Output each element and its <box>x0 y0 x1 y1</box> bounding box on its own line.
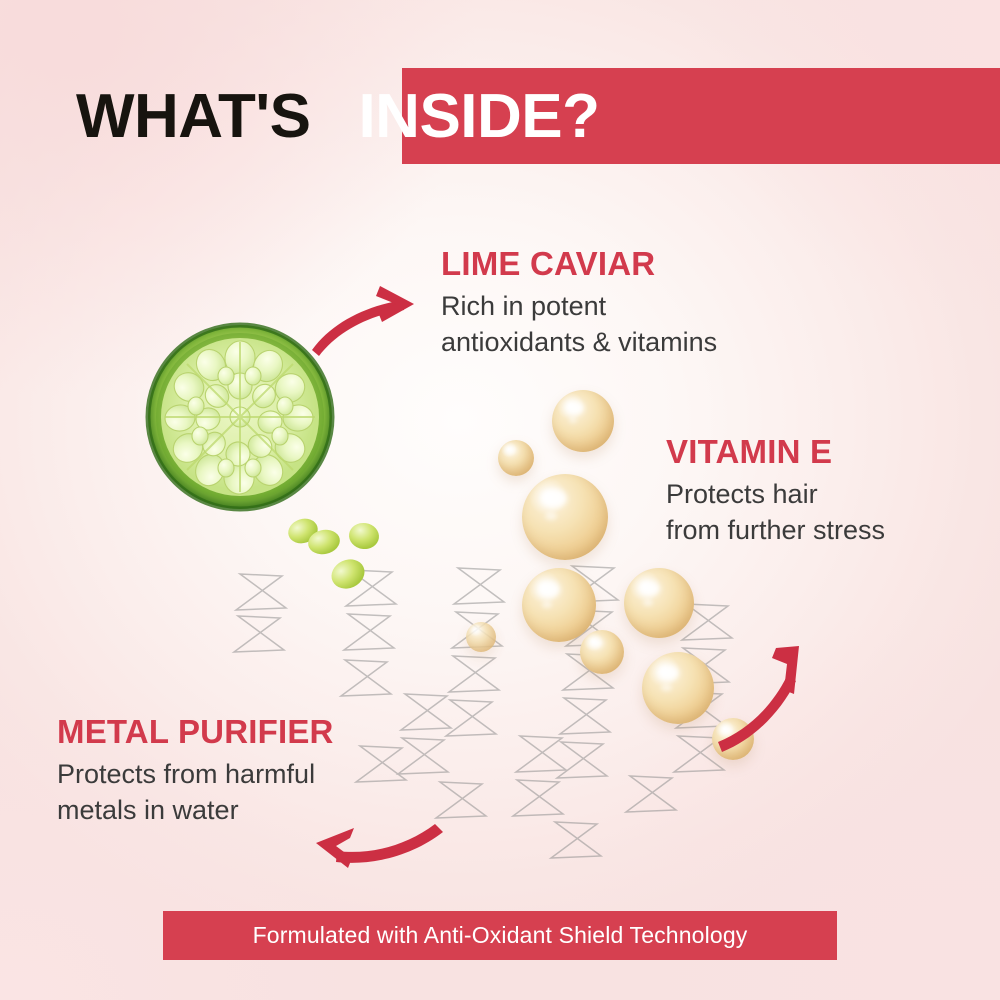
callout-title: METAL PURIFIER <box>57 714 334 750</box>
oil-droplet <box>580 630 624 674</box>
arrow-to-lime-caviar <box>312 286 414 356</box>
oil-droplet <box>642 652 714 724</box>
bottom-banner-text: Formulated with Anti-Oxidant Shield Tech… <box>253 922 748 949</box>
callout-metal-purifier: METAL PURIFIER Protects from harmful met… <box>57 714 334 829</box>
callout-title: LIME CAVIAR <box>441 246 717 282</box>
infographic-canvas: WHAT'S INSIDE? LIME CAVIAR Rich in poten… <box>0 0 1000 1000</box>
lime-pearls <box>278 508 398 598</box>
callout-title: VITAMIN E <box>666 434 885 470</box>
oil-droplet <box>498 440 534 476</box>
callout-vitamin-e: VITAMIN E Protects hair from further str… <box>666 434 885 549</box>
callout-body: Rich in potent antioxidants & vitamins <box>441 289 717 360</box>
oil-droplet <box>712 718 754 760</box>
callout-body: Protects hair from further stress <box>666 477 885 548</box>
oil-droplet <box>522 474 608 560</box>
bottom-banner: Formulated with Anti-Oxidant Shield Tech… <box>163 911 837 960</box>
page-header: WHAT'S INSIDE? <box>0 60 1000 172</box>
arrow-to-metal-purifier <box>316 824 443 868</box>
oil-droplets-group <box>460 370 790 770</box>
callout-body: Protects from harmful metals in water <box>57 757 334 828</box>
oil-droplet <box>466 622 496 652</box>
header-title: WHAT'S INSIDE? <box>0 60 1000 172</box>
header-title-black: WHAT'S <box>76 81 310 152</box>
callout-lime-caviar: LIME CAVIAR Rich in potent antioxidants … <box>441 246 717 361</box>
arrow-to-vitamin-e <box>718 646 799 752</box>
header-title-white: INSIDE? <box>358 81 599 152</box>
lime-slice-image <box>140 318 340 518</box>
oil-droplet <box>522 568 596 642</box>
oil-droplet <box>552 390 614 452</box>
oil-droplet <box>624 568 694 638</box>
